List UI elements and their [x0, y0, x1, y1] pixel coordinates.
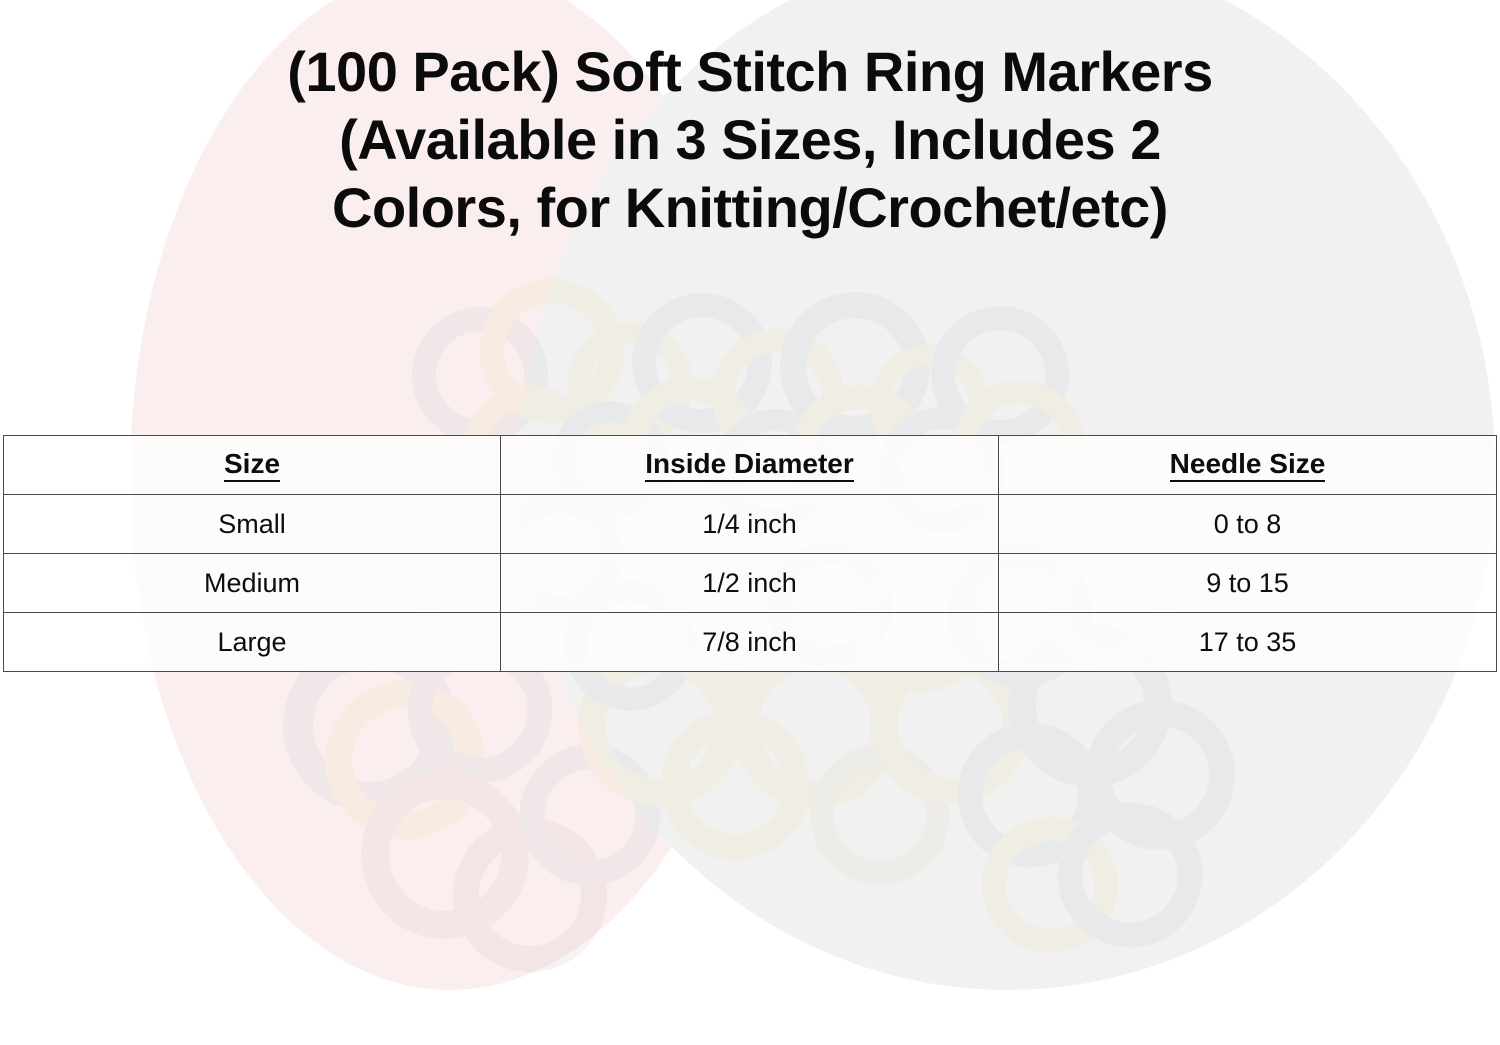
cell-diameter-large: 7/8 inch [501, 613, 999, 672]
product-title-line-1: (100 Pack) Soft Stitch Ring Markers [0, 38, 1500, 106]
table-row: Small 1/4 inch 0 to 8 [4, 495, 1497, 554]
cell-needle-medium: 9 to 15 [999, 554, 1497, 613]
cell-size-large: Large [4, 613, 501, 672]
cell-size-medium: Medium [4, 554, 501, 613]
product-title-line-3: Colors, for Knitting/Crochet/etc) [0, 174, 1500, 242]
cell-diameter-medium: 1/2 inch [501, 554, 999, 613]
table-row: Medium 1/2 inch 9 to 15 [4, 554, 1497, 613]
product-title: (100 Pack) Soft Stitch Ring Markers (Ava… [0, 38, 1500, 242]
column-header-inside-diameter: Inside Diameter [501, 436, 999, 495]
cell-size-small: Small [4, 495, 501, 554]
cell-needle-small: 0 to 8 [999, 495, 1497, 554]
table-row: Large 7/8 inch 17 to 35 [4, 613, 1497, 672]
product-image-canvas: (100 Pack) Soft Stitch Ring Markers (Ava… [0, 0, 1500, 1045]
column-header-needle-size: Needle Size [999, 436, 1497, 495]
cell-diameter-small: 1/4 inch [501, 495, 999, 554]
column-header-inside-diameter-label: Inside Diameter [645, 449, 854, 482]
column-header-size-label: Size [224, 449, 280, 482]
table-header-row: Size Inside Diameter Needle Size [4, 436, 1497, 495]
column-header-needle-size-label: Needle Size [1170, 449, 1326, 482]
size-chart-table: Size Inside Diameter Needle Size Small 1… [3, 435, 1497, 672]
column-header-size: Size [4, 436, 501, 495]
cell-needle-large: 17 to 35 [999, 613, 1497, 672]
product-title-line-2: (Available in 3 Sizes, Includes 2 [0, 106, 1500, 174]
